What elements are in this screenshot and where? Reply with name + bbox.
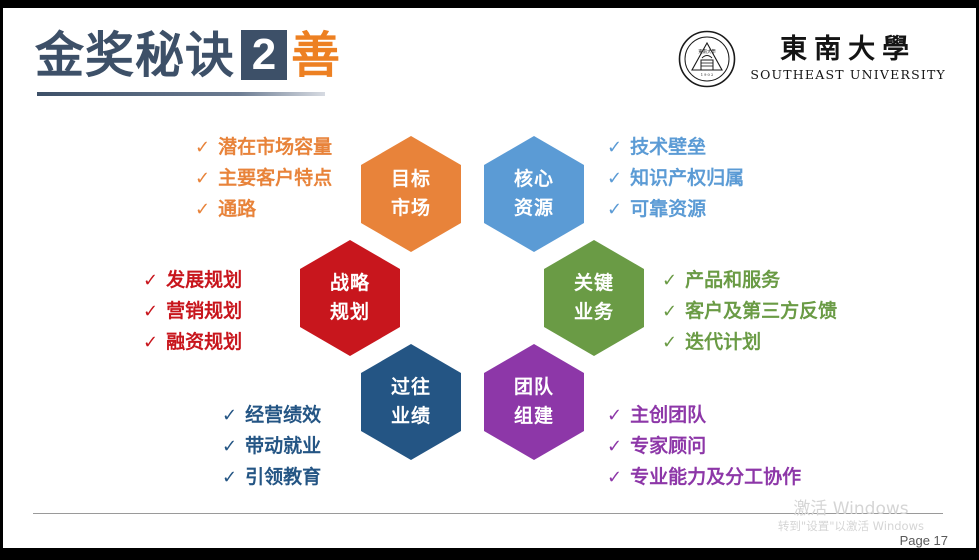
- list-item-label: 客户及第三方反馈: [685, 296, 837, 327]
- title-accent-text: 善: [291, 31, 340, 80]
- watermark-line-1: 激活 Windows: [778, 500, 924, 520]
- list-item-label: 知识产权归属: [630, 163, 744, 194]
- list-item-label: 引领教育: [245, 462, 321, 493]
- check-icon: ✓: [195, 164, 210, 193]
- check-icon: ✓: [607, 133, 622, 162]
- check-icon: ✓: [607, 432, 622, 461]
- bullets-past-performance: ✓ 经营绩效 ✓ 带动就业 ✓ 引领教育: [222, 400, 321, 492]
- list-item: ✓ 营销规划: [143, 296, 242, 327]
- slide-canvas: 金奖秘诀 2 善 東南大學 1 9 0 2 東: [3, 8, 976, 548]
- list-item-label: 技术壁垒: [630, 132, 706, 163]
- list-item-label: 营销规划: [166, 296, 242, 327]
- university-name-cn: 東南大學: [780, 36, 916, 64]
- hexagon-strategic-plan-line1: 战略: [330, 269, 370, 298]
- hexagon-key-business-line1: 关键: [574, 269, 614, 298]
- hexagon-team-building[interactable]: 团队 组建: [484, 344, 584, 460]
- bullets-core-resources: ✓ 技术壁垒 ✓ 知识产权归属 ✓ 可靠资源: [607, 132, 744, 224]
- list-item: ✓ 引领教育: [222, 462, 321, 493]
- list-item: ✓ 技术壁垒: [607, 132, 744, 163]
- list-item-label: 融资规划: [166, 327, 242, 358]
- check-icon: ✓: [607, 401, 622, 430]
- hexagon-core-resources-line2: 资源: [514, 194, 554, 223]
- slide-root: 金奖秘诀 2 善 東南大學 1 9 0 2 東: [0, 0, 979, 560]
- hexagon-core-resources-line1: 核心: [514, 165, 554, 194]
- page-number: Page 17: [900, 533, 948, 548]
- list-item: ✓ 产品和服务: [662, 265, 837, 296]
- list-item: ✓ 客户及第三方反馈: [662, 296, 837, 327]
- list-item-label: 主要客户特点: [218, 163, 332, 194]
- list-item-label: 专家顾问: [630, 431, 706, 462]
- list-item-label: 潜在市场容量: [218, 132, 332, 163]
- list-item: ✓ 融资规划: [143, 327, 242, 358]
- list-item-label: 发展规划: [166, 265, 242, 296]
- svg-text:東南大學: 東南大學: [699, 48, 717, 55]
- university-seal-icon: 東南大學 1 9 0 2: [678, 30, 736, 88]
- list-item: ✓ 带动就业: [222, 431, 321, 462]
- bullets-target-market: ✓ 潜在市场容量 ✓ 主要客户特点 ✓ 通路: [195, 132, 332, 224]
- check-icon: ✓: [143, 328, 158, 357]
- list-item: ✓ 主要客户特点: [195, 163, 332, 194]
- list-item: ✓ 主创团队: [607, 400, 801, 431]
- hexagon-past-performance-line2: 业绩: [391, 402, 431, 431]
- bullets-strategic-plan: ✓ 发展规划 ✓ 营销规划 ✓ 融资规划: [143, 265, 242, 357]
- list-item-label: 产品和服务: [685, 265, 780, 296]
- list-item: ✓ 通路: [195, 194, 332, 225]
- check-icon: ✓: [662, 297, 677, 326]
- list-item: ✓ 发展规划: [143, 265, 242, 296]
- check-icon: ✓: [662, 266, 677, 295]
- check-icon: ✓: [222, 401, 237, 430]
- check-icon: ✓: [143, 297, 158, 326]
- hexagon-team-building-line2: 组建: [514, 402, 554, 431]
- hexagon-past-performance-line1: 过往: [391, 373, 431, 402]
- check-icon: ✓: [143, 266, 158, 295]
- check-icon: ✓: [195, 195, 210, 224]
- hexagon-target-market[interactable]: 目标 市场: [361, 136, 461, 252]
- list-item: ✓ 潜在市场容量: [195, 132, 332, 163]
- university-name-block: 東南大學 SOUTHEAST UNIVERSITY: [750, 36, 946, 81]
- windows-activation-watermark: 激活 Windows 转到"设置"以激活 Windows: [778, 500, 924, 533]
- check-icon: ✓: [222, 432, 237, 461]
- check-icon: ✓: [662, 328, 677, 357]
- check-icon: ✓: [222, 463, 237, 492]
- list-item-label: 专业能力及分工协作: [630, 462, 801, 493]
- hexagon-strategic-plan-line2: 规划: [330, 298, 370, 327]
- hexagon-key-business[interactable]: 关键 业务: [544, 240, 644, 356]
- university-logo: 東南大學 1 9 0 2 東南大學 SOUTHEAST UNIVERSITY: [678, 30, 946, 88]
- list-item-label: 迭代计划: [685, 327, 761, 358]
- list-item-label: 可靠资源: [630, 194, 706, 225]
- list-item-label: 主创团队: [630, 400, 706, 431]
- list-item: ✓ 可靠资源: [607, 194, 744, 225]
- title-main-text: 金奖秘诀: [35, 31, 235, 80]
- university-name-en: SOUTHEAST UNIVERSITY: [750, 67, 946, 82]
- check-icon: ✓: [607, 164, 622, 193]
- slide-title: 金奖秘诀 2 善: [35, 30, 340, 80]
- bullets-key-business: ✓ 产品和服务 ✓ 客户及第三方反馈 ✓ 迭代计划: [662, 265, 837, 357]
- list-item: ✓ 知识产权归属: [607, 163, 744, 194]
- check-icon: ✓: [195, 133, 210, 162]
- list-item-label: 经营绩效: [245, 400, 321, 431]
- title-underline: [37, 92, 325, 96]
- hexagon-target-market-line2: 市场: [391, 194, 431, 223]
- svg-text:1 9 0 2: 1 9 0 2: [701, 73, 714, 77]
- hexagon-key-business-line2: 业务: [574, 298, 614, 327]
- footer-divider: [33, 513, 943, 514]
- list-item-label: 带动就业: [245, 431, 321, 462]
- hexagon-core-resources[interactable]: 核心 资源: [484, 136, 584, 252]
- list-item: ✓ 经营绩效: [222, 400, 321, 431]
- watermark-line-2: 转到"设置"以激活 Windows: [778, 520, 924, 534]
- hexagon-past-performance[interactable]: 过往 业绩: [361, 344, 461, 460]
- list-item: ✓ 专业能力及分工协作: [607, 462, 801, 493]
- list-item: ✓ 迭代计划: [662, 327, 837, 358]
- hexagon-target-market-line1: 目标: [391, 165, 431, 194]
- title-number-badge: 2: [241, 30, 287, 80]
- list-item: ✓ 专家顾问: [607, 431, 801, 462]
- hexagon-team-building-line1: 团队: [514, 373, 554, 402]
- bullets-team-building: ✓ 主创团队 ✓ 专家顾问 ✓ 专业能力及分工协作: [607, 400, 801, 492]
- check-icon: ✓: [607, 463, 622, 492]
- list-item-label: 通路: [218, 194, 256, 225]
- hexagon-strategic-plan[interactable]: 战略 规划: [300, 240, 400, 356]
- check-icon: ✓: [607, 195, 622, 224]
